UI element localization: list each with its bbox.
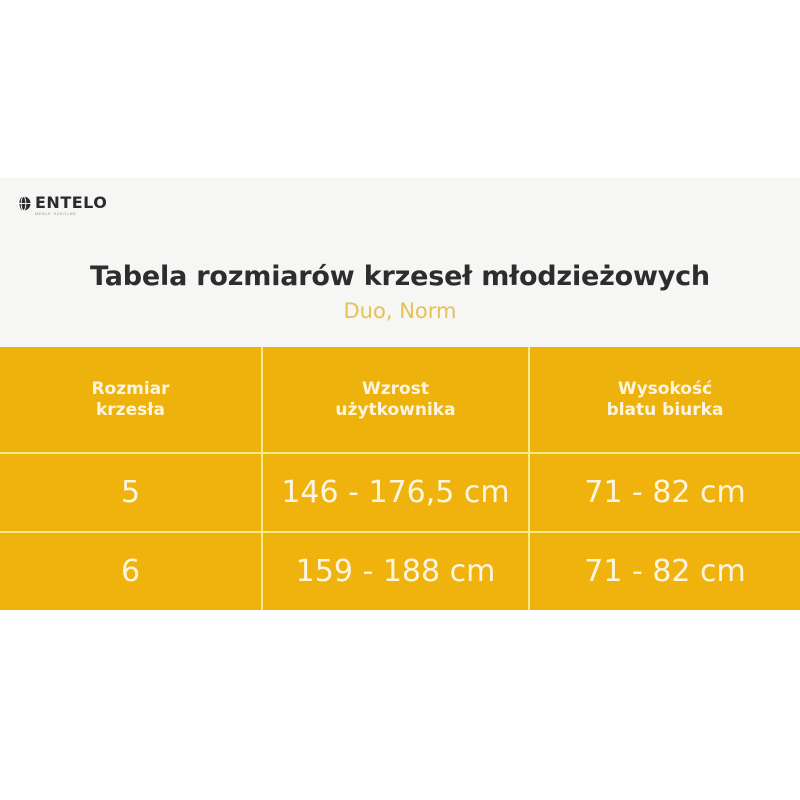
cell-size: 5	[0, 453, 262, 532]
cell-size: 6	[0, 532, 262, 610]
entelo-globe-icon	[16, 196, 31, 211]
brand-row: ENTELO	[16, 195, 107, 211]
brand-tagline: MEBLE SZKOLNE	[35, 213, 77, 217]
page-subtitle: Duo, Norm	[0, 300, 800, 323]
cell-desk-height: 71 - 82 cm	[529, 532, 800, 610]
table-header-row: Rozmiar krzesła Wzrost użytkownika Wysok…	[0, 347, 800, 453]
content-card: ENTELO MEBLE SZKOLNE Tabela rozmiarów kr…	[0, 178, 800, 608]
brand-name: ENTELO	[35, 195, 107, 211]
table-body: 5 146 - 176,5 cm 71 - 82 cm 6 159 - 188 …	[0, 453, 800, 610]
cell-user-height: 159 - 188 cm	[262, 532, 529, 610]
column-header-user-height: Wzrost użytkownika	[262, 347, 529, 453]
column-header-user-height-line1: Wzrost	[263, 379, 528, 399]
cell-desk-height: 71 - 82 cm	[529, 453, 800, 532]
cell-user-height: 146 - 176,5 cm	[262, 453, 529, 532]
column-header-size-line2: krzesła	[0, 400, 261, 420]
page-root: ENTELO MEBLE SZKOLNE Tabela rozmiarów kr…	[0, 0, 800, 800]
sizing-table: Rozmiar krzesła Wzrost użytkownika Wysok…	[0, 347, 800, 610]
column-header-size: Rozmiar krzesła	[0, 347, 262, 453]
column-header-desk-height: Wysokość blatu biurka	[529, 347, 800, 453]
column-header-user-height-line2: użytkownika	[263, 400, 528, 420]
table-row: 5 146 - 176,5 cm 71 - 82 cm	[0, 453, 800, 532]
table-row: 6 159 - 188 cm 71 - 82 cm	[0, 532, 800, 610]
table-header: Rozmiar krzesła Wzrost użytkownika Wysok…	[0, 347, 800, 453]
page-title: Tabela rozmiarów krzeseł młodzieżowych	[0, 262, 800, 292]
column-header-size-line1: Rozmiar	[0, 379, 261, 399]
column-header-desk-height-line1: Wysokość	[530, 379, 800, 399]
column-header-desk-height-line2: blatu biurka	[530, 400, 800, 420]
brand-logo: ENTELO MEBLE SZKOLNE	[16, 195, 107, 217]
